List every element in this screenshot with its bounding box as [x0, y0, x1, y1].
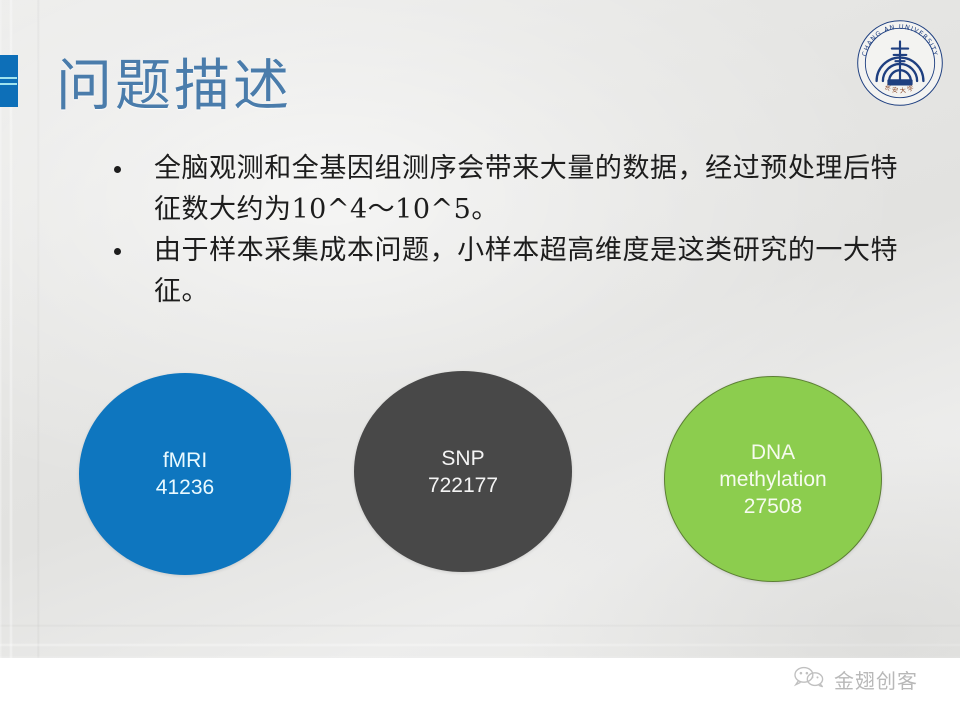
- bullet-item: 由于样本采集成本问题，小样本超高维度是这类研究的一大特征。: [108, 230, 898, 312]
- circle-label: fMRI: [163, 447, 207, 474]
- bullet-text: 由于样本采集成本问题，小样本超高维度是这类研究的一大特征。: [154, 235, 898, 307]
- watermark: 金翅创客: [792, 662, 918, 696]
- diagram-circle-fmri: fMRI 41236: [79, 373, 291, 575]
- diagram-circle-dna-methylation: DNA methylation 27508: [664, 376, 882, 582]
- circle-value: 27508: [744, 493, 802, 520]
- bullet-dot-icon: [114, 248, 121, 255]
- equals-mark-icon: [0, 77, 17, 79]
- circle-label-line1: DNA: [751, 439, 795, 466]
- watermark-text: 金翅创客: [834, 665, 918, 694]
- page-title: 问题描述: [56, 52, 292, 122]
- bullet-item: 全脑观测和全基因组测序会带来大量的数据，经过预处理后特征数大约为10^4～10^…: [108, 148, 898, 230]
- circle-label: SNP: [441, 445, 484, 472]
- bullet-text: 全脑观测和全基因组测序会带来大量的数据，经过预处理后特征数大约为10^4～10^…: [154, 153, 898, 225]
- bullet-dot-icon: [114, 166, 121, 173]
- slide-root: 问题描述 全脑观测和全基因组测序会带来大量的数据，经过预处理后特征数大约为10^…: [0, 0, 960, 720]
- changan-university-seal-icon: CHANG AN UNIVERSITY 长安大学: [855, 18, 945, 108]
- left-accent-tab: [0, 55, 18, 107]
- bullet-list: 全脑观测和全基因组测序会带来大量的数据，经过预处理后特征数大约为10^4～10^…: [108, 148, 898, 312]
- circle-value: 722177: [428, 472, 498, 499]
- diagram-circle-snp: SNP 722177: [354, 371, 572, 572]
- circle-label-line2: methylation: [719, 466, 826, 493]
- wechat-icon: [792, 664, 826, 695]
- circle-value: 41236: [156, 474, 214, 501]
